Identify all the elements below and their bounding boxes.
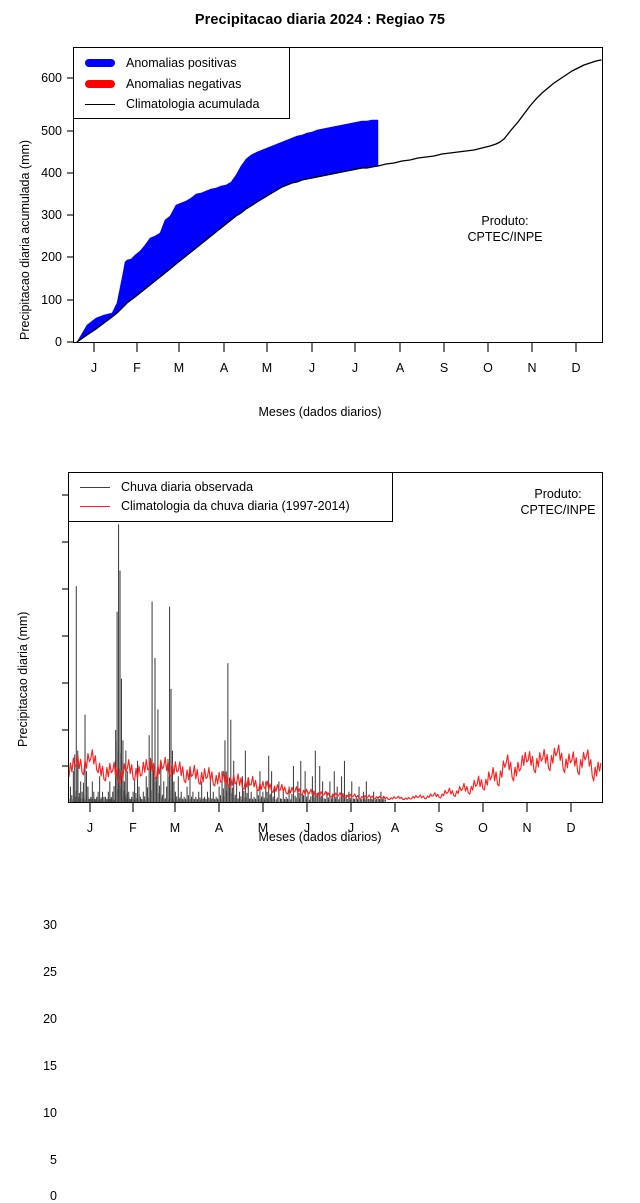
top-xtick-mar: M <box>174 361 184 375</box>
top-xtick-apr: A <box>220 361 228 375</box>
top-xtick-oct: O <box>483 361 493 375</box>
legend-item-daily-climatology: Climatologia da chuva diaria (1997-2014) <box>80 499 350 513</box>
top-xtick-sep: S <box>440 361 448 375</box>
negative-anomaly-swatch-icon <box>85 80 115 88</box>
top-y-axis-label: Precipitacao diaria acumulada (mm) <box>18 140 32 340</box>
bottom-ytick-5: 5 <box>14 1153 57 1167</box>
top-xtick-aug: A <box>396 361 404 375</box>
bottom-legend: Chuva diaria observada Climatologia da c… <box>68 472 393 522</box>
positive-anomaly-swatch-icon <box>85 59 115 67</box>
top-xtick-jan: J <box>91 361 97 375</box>
bottom-ytick-20: 20 <box>14 1012 57 1026</box>
top-xtick-dec: D <box>571 361 580 375</box>
top-xtick-may: M <box>262 361 272 375</box>
top-x-axis-ticks <box>94 343 576 352</box>
accumulated-precipitation-panel: 0 100 200 300 400 500 600 J F M A M J J … <box>0 0 640 430</box>
top-xtick-feb: F <box>133 361 141 375</box>
top-legend: Anomalias positivas Anomalias negativas … <box>73 47 290 119</box>
precipitation-figure: Precipitacao diaria 2024 : Regiao 75 <box>0 0 640 850</box>
bottom-ytick-25: 25 <box>14 965 57 979</box>
legend-label-climatology-accumulated: Climatologia acumulada <box>126 97 259 111</box>
bottom-y-axis-label: Precipitacao diaria (mm) <box>16 612 30 747</box>
legend-label-daily-climatology: Climatologia da chuva diaria (1997-2014) <box>121 499 350 513</box>
bottom-produto-line2: CPTEC/INPE <box>520 502 595 518</box>
legend-label-negative-anomaly: Anomalias negativas <box>126 77 241 91</box>
legend-item-negative-anomaly: Anomalias negativas <box>85 77 241 91</box>
top-produto-line1: Produto: <box>467 213 542 229</box>
legend-label-positive-anomaly: Anomalias positivas <box>126 56 236 70</box>
top-xtick-nov: N <box>527 361 536 375</box>
top-ytick-500: 500 <box>20 124 62 138</box>
daily-climatology-swatch-icon <box>80 506 110 507</box>
bottom-ytick-10: 10 <box>14 1106 57 1120</box>
observed-daily-swatch-icon <box>80 487 110 488</box>
top-x-axis-label: Meses (dados diarios) <box>0 405 640 419</box>
climatology-accumulated-swatch-icon <box>85 104 115 105</box>
legend-item-observed-daily: Chuva diaria observada <box>80 480 253 494</box>
bottom-ytick-15: 15 <box>14 1059 57 1073</box>
top-ytick-600: 600 <box>20 71 62 85</box>
bottom-y-axis-ticks <box>62 495 68 766</box>
legend-item-positive-anomaly: Anomalias positivas <box>85 56 236 70</box>
bottom-x-axis-label: Meses (dados diarios) <box>0 830 640 844</box>
top-produto-line2: CPTEC/INPE <box>467 229 542 245</box>
top-xtick-jul: J <box>352 361 358 375</box>
bottom-ytick-0: 0 <box>14 1189 57 1203</box>
legend-label-observed-daily: Chuva diaria observada <box>121 480 253 494</box>
top-produto-annotation: Produto: CPTEC/INPE <box>467 213 542 245</box>
top-xtick-jun: J <box>309 361 315 375</box>
bottom-produto-annotation: Produto: CPTEC/INPE <box>520 486 595 518</box>
observed-daily-rainfall-impulses <box>69 524 386 802</box>
bottom-ytick-30: 30 <box>14 918 57 932</box>
bottom-x-axis-ticks <box>90 803 571 812</box>
legend-item-climatology-accumulated: Climatologia acumulada <box>85 97 259 111</box>
bottom-produto-line1: Produto: <box>520 486 595 502</box>
